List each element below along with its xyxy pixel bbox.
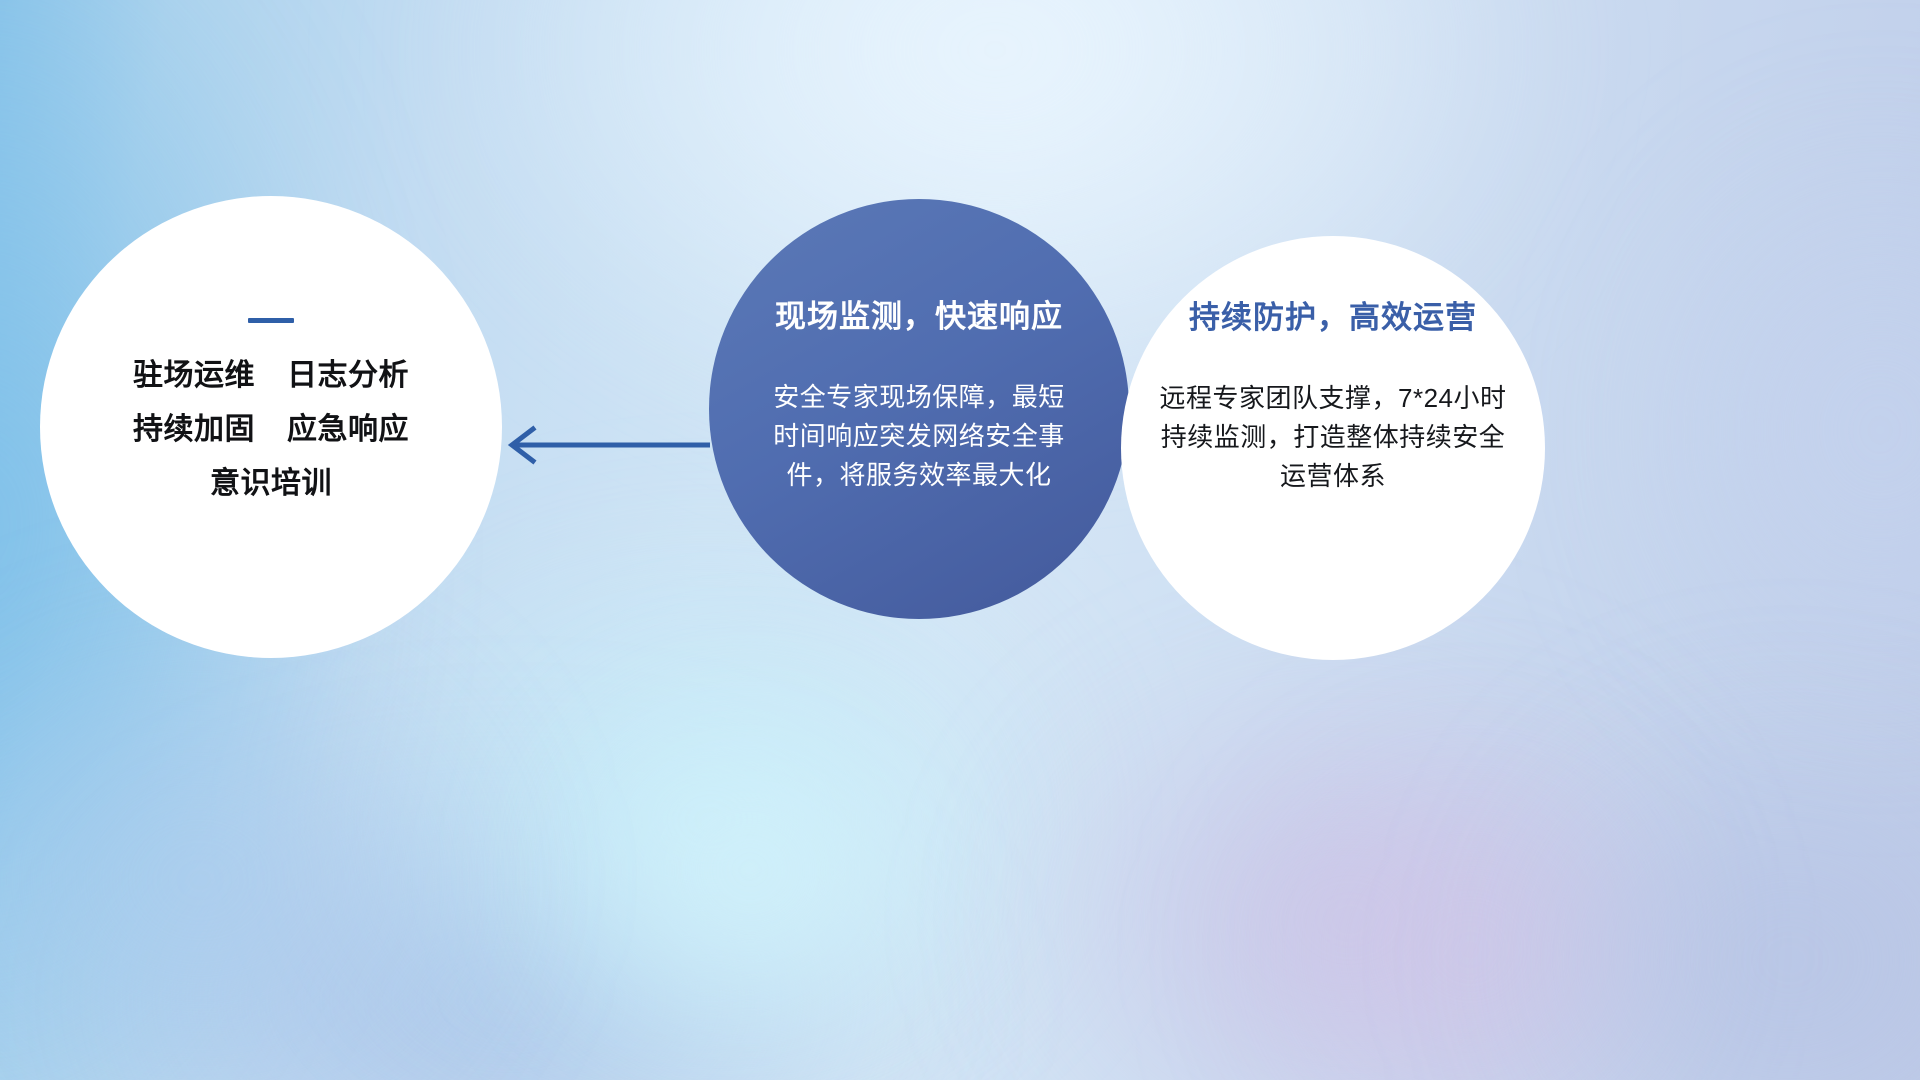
circle-description: 远程专家团队支撑，7*24小时持续监测，打造整体持续安全运营体系	[1153, 379, 1513, 496]
keyword-item: 驻场运维	[133, 361, 255, 391]
circle-description: 安全专家现场保障，最短时间响应突发网络安全事件，将服务效率最大化	[769, 378, 1069, 495]
connector-arrow-left-icon	[495, 425, 710, 465]
keyword-row: 意识培训	[210, 469, 332, 499]
circle-node-onsite-services[interactable]: 驻场运维 日志分析 持续加固 应急响应 意识培训	[40, 196, 502, 658]
keyword-list: 驻场运维 日志分析 持续加固 应急响应 意识培训	[133, 361, 409, 499]
circle-title: 现场监测，快速响应	[775, 291, 1063, 336]
keyword-row: 持续加固 应急响应	[133, 415, 409, 445]
keyword-item: 意识培训	[210, 469, 332, 499]
circle-title: 持续防护，高效运营	[1189, 292, 1477, 337]
keyword-item: 持续加固	[133, 415, 255, 445]
keyword-row: 驻场运维 日志分析	[133, 361, 409, 391]
circle-node-continuous-operations[interactable]: 持续防护，高效运营 远程专家团队支撑，7*24小时持续监测，打造整体持续安全运营…	[1121, 236, 1545, 660]
keyword-item: 日志分析	[287, 361, 409, 391]
keyword-item: 应急响应	[287, 415, 409, 445]
circle-node-onsite-monitoring[interactable]: 现场监测，快速响应 安全专家现场保障，最短时间响应突发网络安全事件，将服务效率最…	[709, 199, 1129, 619]
three-circle-diagram: 驻场运维 日志分析 持续加固 应急响应 意识培训 现场监测，快速响应 安全专家现…	[0, 0, 1920, 1080]
title-divider	[248, 318, 294, 323]
